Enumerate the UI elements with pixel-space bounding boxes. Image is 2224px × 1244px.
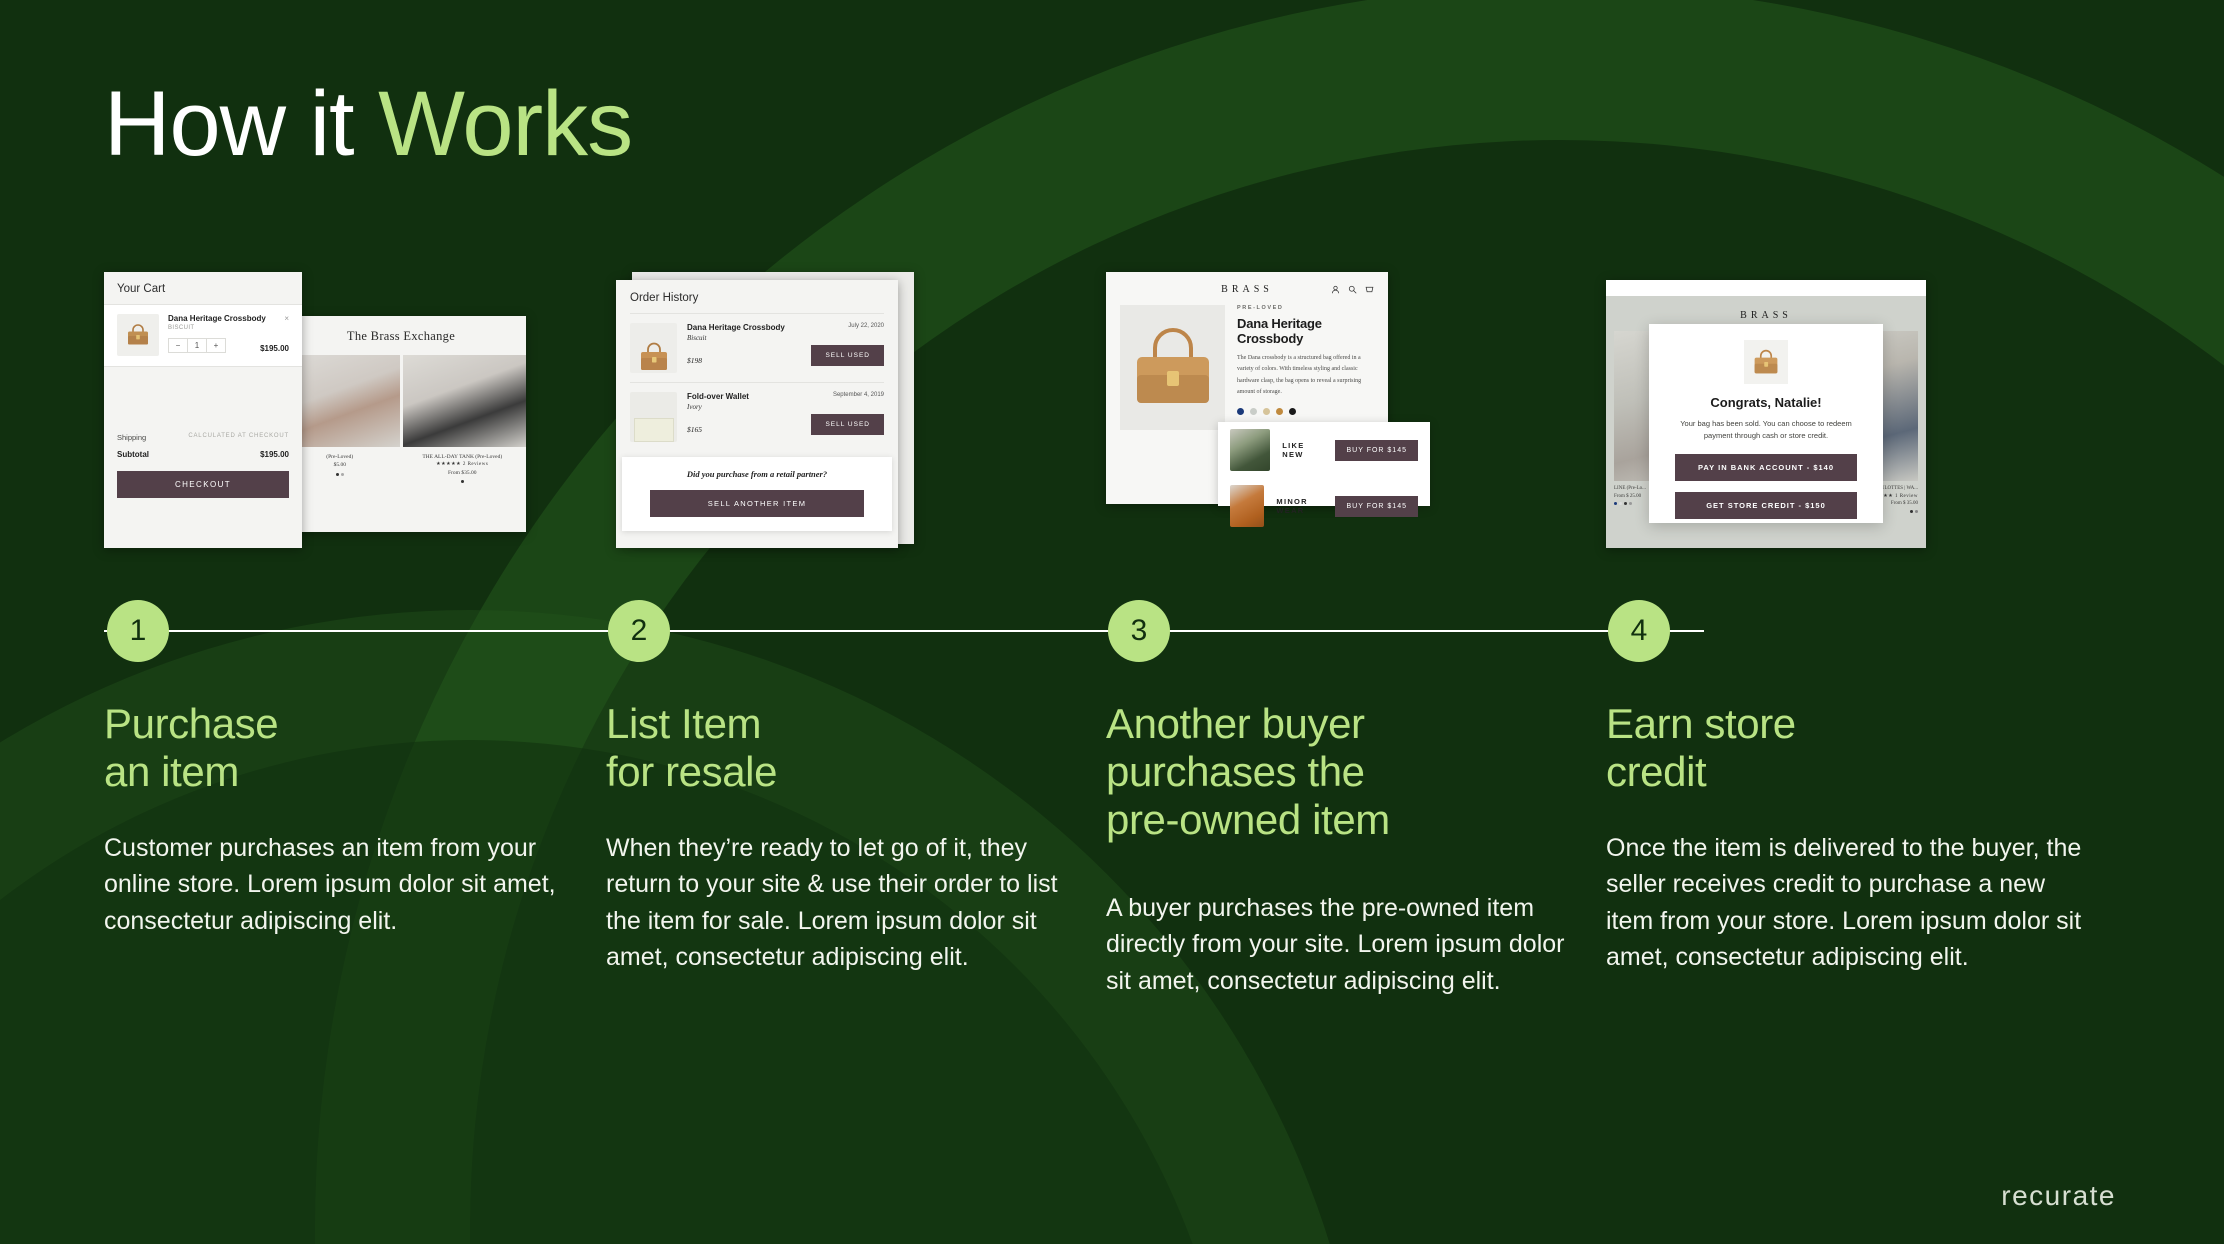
browser-chrome <box>1606 280 1926 296</box>
swatch-navy[interactable] <box>1237 408 1244 415</box>
condition-image-like-new <box>1230 429 1270 471</box>
checkout-button[interactable]: CHECKOUT <box>117 471 289 498</box>
brand-wordmark: BRASS <box>1221 284 1273 295</box>
product-eyebrow: PRE-LOVED <box>1237 305 1374 311</box>
handbag-icon <box>1751 348 1781 376</box>
mock-condition-options: LIKE NEW BUY FOR $145 MINOR WEAR BUY FOR… <box>1218 422 1430 506</box>
product-caption-right-price: From $35.00 <box>403 469 523 477</box>
step-column-4: BRASS LINE (Pre-Lo... From $ 25.00 <box>1606 0 2086 1244</box>
condition-image-minor-wear <box>1230 485 1264 527</box>
order-date: September 4, 2019 <box>811 392 884 398</box>
cart-item-price: $195.00 <box>260 344 289 353</box>
step-column-1: The Brass Exchange (Pre-Loved) $5.00 THE… <box>104 0 584 1244</box>
order-history-title: Order History <box>616 280 898 313</box>
retail-partner-question: Did you purchase from a retail partner? <box>632 469 882 479</box>
store-header: BRASS <box>1606 296 1926 323</box>
order-item-price: $198 <box>687 356 801 365</box>
order-row: Dana Heritage Crossbody Biscuit $198 Jul… <box>616 314 898 382</box>
wallet-icon <box>634 418 674 442</box>
condition-row: MINOR WEAR BUY FOR $145 <box>1218 478 1430 534</box>
step-1-heading: Purchase an item <box>104 700 584 796</box>
order-item-colorway: Ivory <box>687 403 801 411</box>
step-3-body: A buyer purchases the pre-owned item dir… <box>1106 890 1586 999</box>
handbag-icon <box>1129 327 1217 409</box>
remove-item-button[interactable]: × <box>284 314 289 331</box>
step-2-artwork: Order History Dana Heritage Crossbody <box>606 272 1086 562</box>
store-background: BRASS LINE (Pre-Lo... From $ 25.00 <box>1606 296 1926 548</box>
product-caption-right: THE ALL-DAY TANK (Pre-Loved) ★★★★★ 2 Rev… <box>403 453 523 483</box>
brand-wordmark: BRASS <box>1740 310 1792 321</box>
step-column-2: Order History Dana Heritage Crossbody <box>606 0 1086 1244</box>
quantity-decrease[interactable]: − <box>169 339 188 352</box>
step-2-heading: List Item for resale <box>606 700 1086 796</box>
review-count: 1 Review <box>1895 494 1918 499</box>
step-4-artwork: BRASS LINE (Pre-Lo... From $ 25.00 <box>1606 272 2086 562</box>
subtotal-row: Subtotal $195.00 <box>104 446 302 463</box>
exchange-photos <box>276 355 526 447</box>
sell-used-button[interactable]: SELL USED <box>811 414 884 435</box>
cart-title: Your Cart <box>104 272 302 304</box>
order-thumbnail <box>630 392 677 442</box>
get-store-credit-button[interactable]: GET STORE CREDIT - $150 <box>1675 492 1857 519</box>
order-thumbnail <box>630 323 677 373</box>
product-detail: PRE-LOVED Dana Heritage Crossbody The Da… <box>1106 305 1388 430</box>
recurate-logo: recurate <box>2001 1180 2116 1212</box>
modal-product-thumbnail <box>1744 340 1788 384</box>
order-item-name: Dana Heritage Crossbody <box>687 323 801 332</box>
mock-store-page: BRASS LINE (Pre-Lo... From $ 25.00 <box>1606 280 1926 548</box>
sold-confirmation-modal: Congrats, Natalie! Your bag has been sol… <box>1649 324 1883 523</box>
product-title: Dana Heritage Crossbody <box>1237 316 1374 346</box>
pay-in-bank-account-button[interactable]: PAY IN BANK ACCOUNT - $140 <box>1675 454 1857 481</box>
swatch-sand[interactable] <box>1263 408 1270 415</box>
step-1-artwork: The Brass Exchange (Pre-Loved) $5.00 THE… <box>104 272 584 562</box>
order-item-colorway: Biscuit <box>687 334 801 342</box>
order-meta: July 22, 2020 SELL USED <box>811 323 884 373</box>
search-icon[interactable] <box>1348 285 1357 294</box>
order-row: Fold-over Wallet Ivory $165 September 4,… <box>616 383 898 451</box>
order-date: July 22, 2020 <box>811 323 884 329</box>
account-icon[interactable] <box>1331 285 1340 294</box>
step-column-3: BRASS <box>1106 0 1586 1244</box>
mock-order-history: Order History Dana Heritage Crossbody <box>616 280 898 548</box>
quantity-stepper[interactable]: − 1 + <box>168 338 226 353</box>
color-swatches[interactable] <box>1237 408 1374 415</box>
swatch-biscuit[interactable] <box>1276 408 1283 415</box>
shipping-row: Shipping CALCULATED AT CHECKOUT <box>104 429 302 446</box>
mock-brass-exchange: The Brass Exchange (Pre-Loved) $5.00 THE… <box>276 316 526 532</box>
product-image <box>1120 305 1225 430</box>
header-icons <box>1331 285 1374 294</box>
product-description: The Dana crossbody is a structured bag o… <box>1237 353 1374 399</box>
swatch-black[interactable] <box>1289 408 1296 415</box>
order-item-price: $165 <box>687 425 801 434</box>
condition-label: LIKE NEW <box>1282 441 1323 459</box>
cart-icon[interactable] <box>1365 285 1374 294</box>
store-header: BRASS <box>1106 272 1388 305</box>
mock-your-cart: Your Cart Dana Heri <box>104 272 302 548</box>
step-4-heading: Earn store credit <box>1606 700 2086 796</box>
rating-stars: ★★★★★ 2 Reviews <box>403 461 523 469</box>
quantity-value: 1 <box>188 339 207 352</box>
buy-button-minor-wear[interactable]: BUY FOR $145 <box>1335 496 1418 517</box>
step-4-body: Once the item is delivered to the buyer,… <box>1606 830 2086 975</box>
swatch-grey[interactable] <box>1250 408 1257 415</box>
review-count: 2 Reviews <box>463 462 488 467</box>
subtotal-label: Subtotal <box>117 450 149 459</box>
step-1-body: Customer purchases an item from your onl… <box>104 830 584 939</box>
exchange-title: The Brass Exchange <box>276 316 526 355</box>
cart-item-name: Dana Heritage Crossbody <box>168 314 266 323</box>
cart-line-item: Dana Heritage Crossbody BISCUIT × − 1 + <box>104 305 302 366</box>
handbag-icon <box>637 340 671 373</box>
step-3-artwork: BRASS <box>1106 272 1586 562</box>
sell-used-button[interactable]: SELL USED <box>811 345 884 366</box>
buy-button-like-new[interactable]: BUY FOR $145 <box>1335 440 1418 461</box>
shipping-value: CALCULATED AT CHECKOUT <box>188 433 289 442</box>
condition-row: LIKE NEW BUY FOR $145 <box>1218 422 1430 478</box>
cart-item-variant: BISCUIT <box>168 325 266 331</box>
modal-message: Your bag has been sold. You can choose t… <box>1671 418 1861 443</box>
product-caption-right-text: THE ALL-DAY TANK (Pre-Loved) <box>403 453 523 461</box>
handbag-icon <box>125 323 151 347</box>
model-photo-right <box>403 355 527 447</box>
step-3-heading: Another buyer purchases the pre-owned it… <box>1106 700 1586 844</box>
quantity-increase[interactable]: + <box>207 339 225 352</box>
product-thumbnail <box>117 314 159 356</box>
condition-label: MINOR WEAR <box>1276 497 1323 515</box>
exchange-captions: (Pre-Loved) $5.00 THE ALL-DAY TANK (Pre-… <box>276 447 526 483</box>
retail-partner-card: Did you purchase from a retail partner? … <box>622 457 892 531</box>
color-dots-right <box>403 480 523 483</box>
step-2-body: When they’re ready to let go of it, they… <box>606 830 1086 975</box>
shipping-label: Shipping <box>117 433 146 442</box>
order-meta: September 4, 2019 SELL USED <box>811 392 884 442</box>
modal-heading: Congrats, Natalie! <box>1649 395 1883 410</box>
subtotal-value: $195.00 <box>260 450 289 459</box>
order-item-name: Fold-over Wallet <box>687 392 801 401</box>
sell-another-item-button[interactable]: SELL ANOTHER ITEM <box>650 490 864 517</box>
